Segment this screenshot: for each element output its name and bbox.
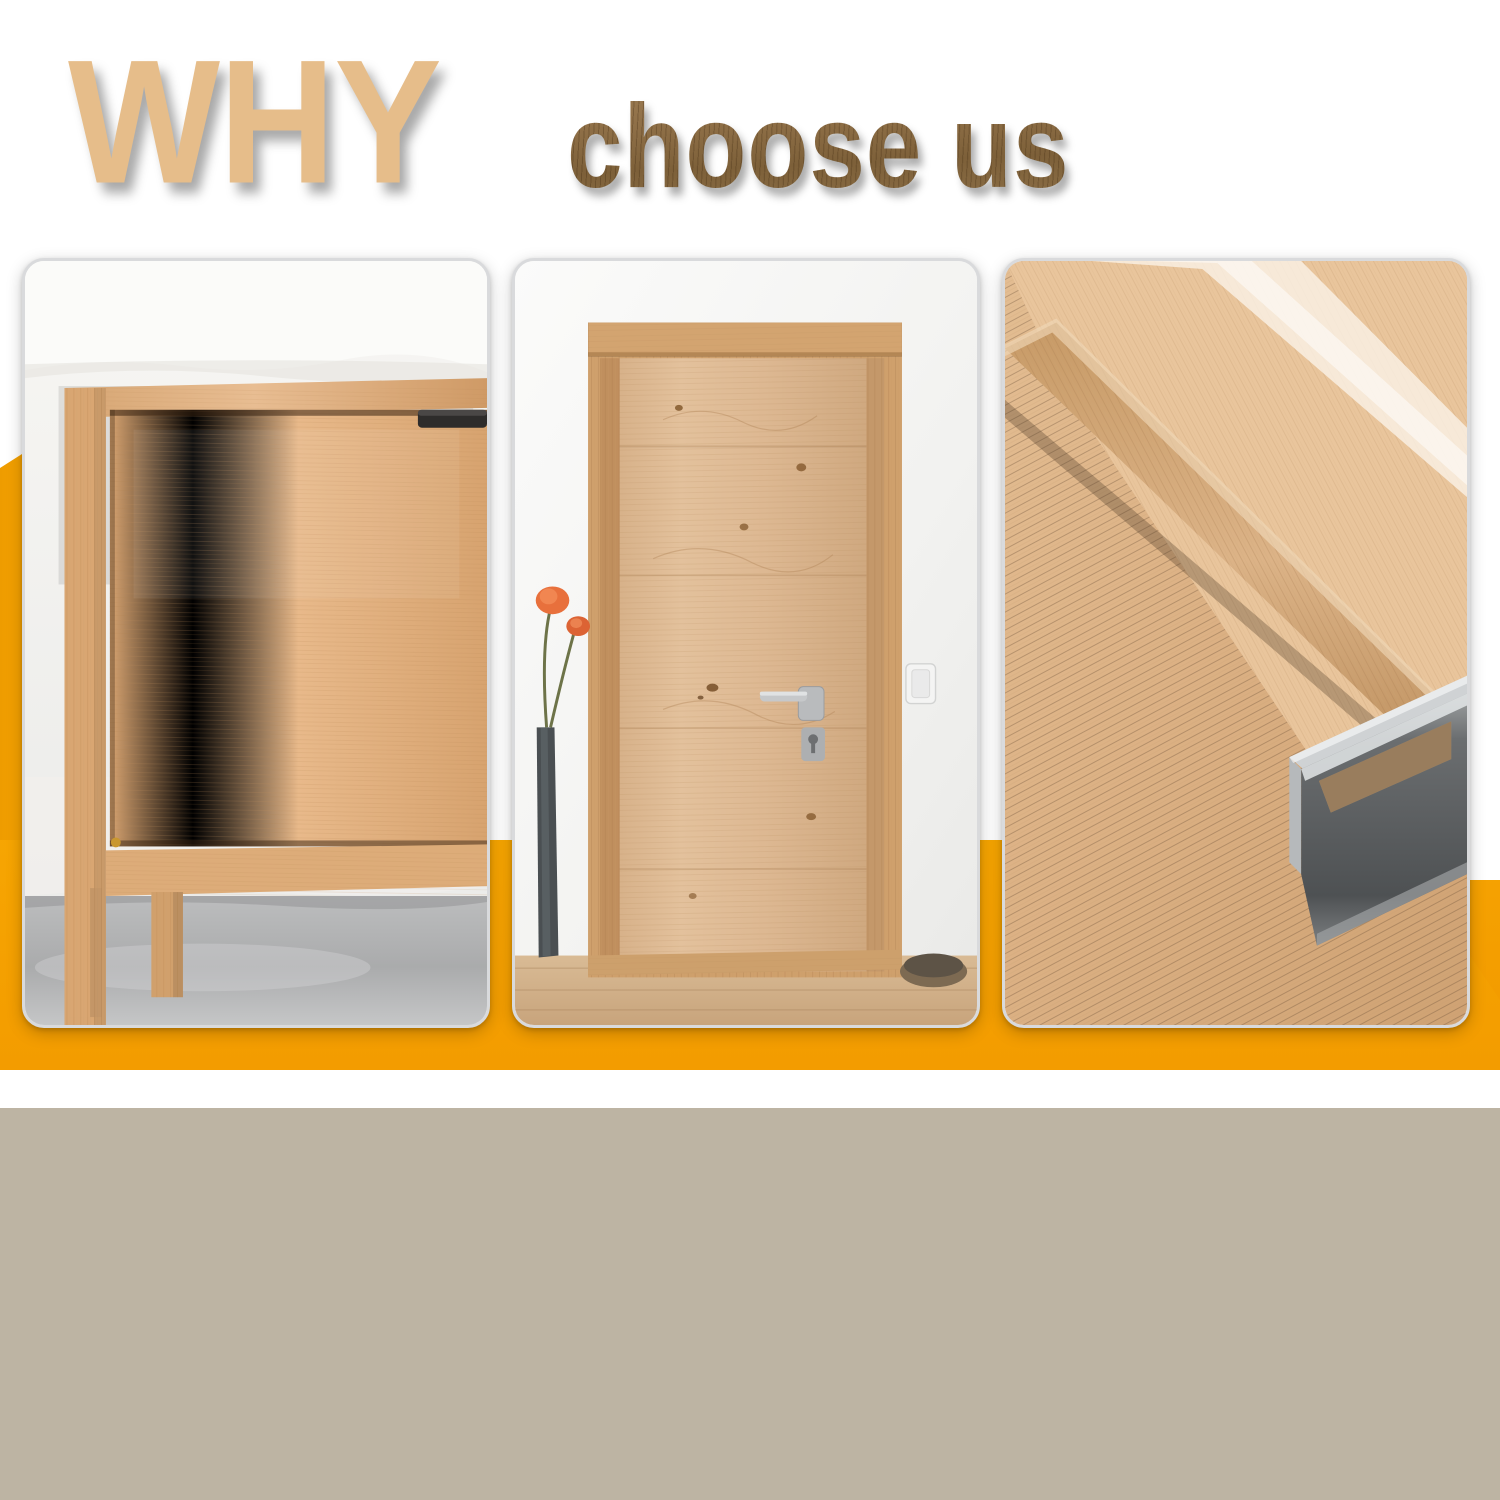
headline-rest-text: choose us [567,88,1069,207]
sideboard-photo [25,261,487,1025]
features-band [0,1108,1500,1500]
gallery-panel-drawer-edge[interactable] [1002,258,1470,1028]
header-banner: WHY choose us [0,0,1500,240]
oak-door-photo [515,261,977,1025]
gallery-panel-sideboard[interactable] [22,258,490,1028]
drawer-edge-photo [1005,261,1467,1025]
gallery-panel-oak-door[interactable] [512,258,980,1028]
headline-accent-word: WHY [68,34,441,210]
light-switch [906,664,936,704]
